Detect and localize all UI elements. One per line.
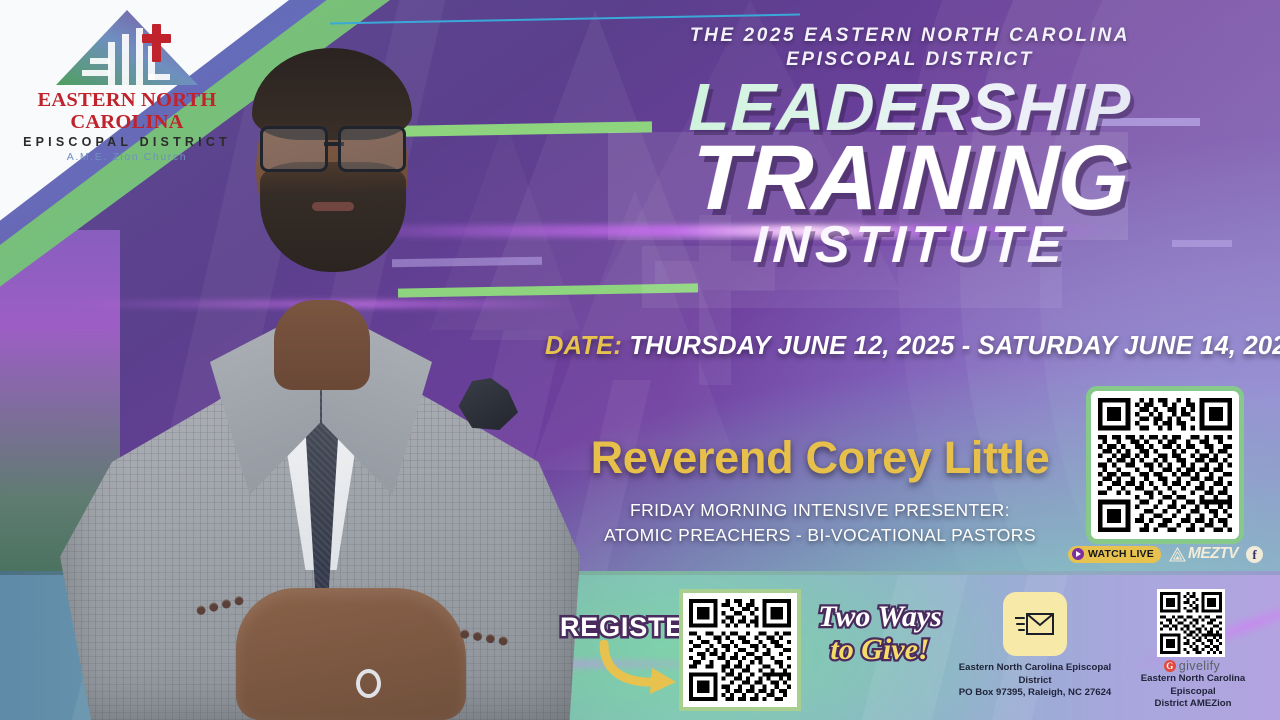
headline-word-institute: INSTITUTE	[559, 219, 1261, 271]
mail-line-2: PO Box 97395, Raleigh, NC 27624	[945, 687, 1125, 700]
event-date: DATE: THURSDAY JUNE 12, 2025 - SATURDAY …	[545, 332, 1245, 361]
givelify-line-2: District AMEZion	[1128, 698, 1258, 711]
speaker-name: Reverend Corey Little	[560, 432, 1080, 484]
portrait-glasses-icon	[258, 126, 408, 168]
headline-block: THE 2025 EASTERN NORTH CAROLINA EPISCOPA…	[560, 24, 1260, 271]
register-qr-code[interactable]	[679, 589, 801, 711]
watch-live-button[interactable]: WATCH LIVE	[1068, 546, 1161, 563]
mail-line-1: Eastern North Carolina Episcopal Distric…	[945, 662, 1125, 687]
headline-kicker: THE 2025 EASTERN NORTH CAROLINA EPISCOPA…	[560, 24, 1260, 71]
date-label: DATE:	[545, 332, 622, 360]
speaker-role-line-2: ATOMIC PREACHERS - BI-VOCATIONAL PASTORS	[540, 523, 1100, 548]
portrait-mouth	[312, 202, 354, 211]
main-qr-code[interactable]	[1086, 386, 1244, 544]
mail-envelope-icon	[1003, 592, 1067, 656]
glasses-lens-left	[260, 126, 328, 172]
ameztv-mountain-icon	[1169, 547, 1186, 562]
speaker-portrait	[60, 34, 580, 720]
event-flyer: EASTERN NORTH CAROLINA EPISCOPAL DISTRIC…	[0, 0, 1280, 720]
headline-word-training: TRAINING	[559, 136, 1262, 221]
givelify-wordmark: givelify	[1179, 659, 1220, 673]
mailing-address: Eastern North Carolina Episcopal Distric…	[945, 662, 1125, 700]
givelify-qr-code[interactable]	[1157, 589, 1225, 657]
kicker-line-2: EPISCOPAL DISTRICT	[560, 48, 1260, 72]
facebook-icon[interactable]: f	[1246, 546, 1263, 563]
give-line-1: Two Ways	[818, 600, 942, 633]
play-icon	[1072, 548, 1084, 560]
two-ways-to-give-heading: Two Ways to Give!	[805, 602, 955, 665]
qr-code-graphic	[1098, 398, 1232, 532]
watch-live-label: WATCH LIVE	[1088, 548, 1154, 560]
speaker-role-line-1: FRIDAY MORNING INTENSIVE PRESENTER:	[540, 498, 1100, 523]
givelify-brand: G givelify	[1152, 659, 1232, 673]
givelify-line-1: Eastern North Carolina Episcopal	[1128, 673, 1258, 698]
portrait-ring	[356, 669, 381, 698]
portrait-neck	[274, 300, 370, 390]
give-line-2: to Give!	[805, 635, 955, 665]
givelify-account-label: Eastern North Carolina Episcopal Distric…	[1128, 673, 1258, 711]
qr-code-graphic	[689, 599, 791, 701]
glasses-lens-right	[338, 126, 406, 172]
envelope-glyph	[1015, 610, 1055, 638]
givelify-g-icon: G	[1164, 660, 1176, 672]
qr-code-graphic	[1160, 592, 1222, 654]
kicker-line-1: THE 2025 EASTERN NORTH CAROLINA	[560, 24, 1260, 48]
watch-live-row: WATCH LIVE MEZTV f	[1068, 545, 1263, 563]
portrait-beard	[260, 162, 406, 272]
date-value: THURSDAY JUNE 12, 2025 - SATURDAY JUNE 1…	[629, 332, 1280, 360]
ameztv-wordmark: MEZTV	[1188, 545, 1238, 563]
curved-arrow-icon	[598, 640, 684, 696]
speaker-role: FRIDAY MORNING INTENSIVE PRESENTER: ATOM…	[540, 498, 1100, 548]
ameztv-logo[interactable]: MEZTV	[1169, 545, 1238, 563]
portrait-hands	[236, 588, 466, 720]
